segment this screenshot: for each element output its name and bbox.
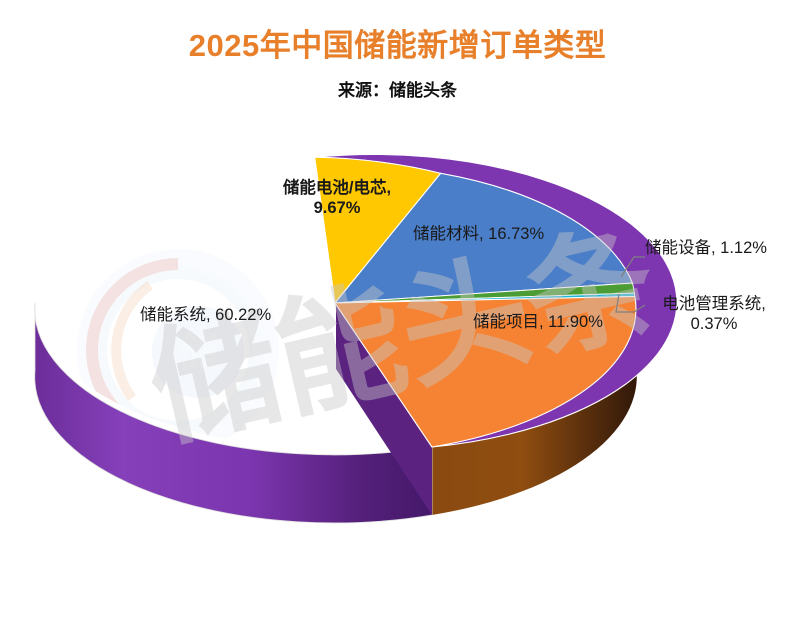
slice-label-battery-cell-line2: 9.67%	[262, 198, 412, 218]
slice-label-bms-line2: 0.37%	[640, 314, 788, 334]
slice-label-bms-line1: 电池管理系统,	[640, 294, 788, 314]
slice-label-battery-cell-line1: 储能电池/电芯,	[262, 178, 412, 198]
slice-label-material: 储能材料, 16.73%	[413, 224, 544, 244]
slice-label-bms: 电池管理系统, 0.37%	[640, 294, 788, 334]
pie-chart-figure: 2025年中国储能新增订单类型 来源：储能头条	[0, 0, 795, 622]
slice-label-project: 储能项目, 11.90%	[473, 312, 603, 332]
slice-label-system: 储能系统, 60.22%	[140, 305, 271, 325]
slice-label-battery-cell: 储能电池/电芯, 9.67%	[262, 178, 412, 218]
slice-label-equipment: 储能设备, 1.12%	[645, 238, 767, 258]
